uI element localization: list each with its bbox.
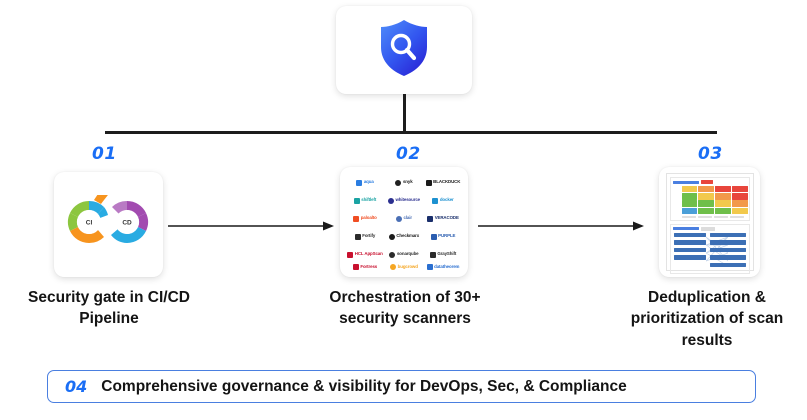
step-number-01: 01 <box>92 144 117 164</box>
scanner-logo-mark <box>427 216 433 222</box>
scanner-logo-name: BLACKDUCK <box>433 180 460 184</box>
heatmap-cell <box>715 208 731 214</box>
loop-label-cd: CD <box>122 220 132 227</box>
scanner-logo: Fortify <box>346 228 384 245</box>
loop-label-ci: CI <box>85 220 92 227</box>
bipartite-right-bar <box>710 240 746 245</box>
step-card-results <box>659 167 760 277</box>
scanner-logo-mark <box>390 264 396 270</box>
scanner-logo-name: sonarqube <box>397 252 419 256</box>
scanner-logo: datatheorem <box>424 264 462 270</box>
scanner-logo-name: clair <box>403 216 412 220</box>
scanner-logo: PURPLE <box>424 228 462 245</box>
hero-card <box>336 6 472 94</box>
bipartite-right-bar <box>710 255 746 260</box>
scanner-logo-name: Fortress <box>360 265 377 269</box>
vertical-connector-line <box>403 94 406 133</box>
scanner-logo-mark <box>353 264 359 270</box>
bipartite-left-column <box>674 233 706 260</box>
scanner-logo: snyk <box>385 174 423 191</box>
scanner-logo: paloalto <box>346 210 384 227</box>
scanner-logo-mark <box>347 252 353 258</box>
scanner-logo-name: datatheorem <box>434 265 459 269</box>
axis-tick <box>730 216 744 218</box>
step-caption-2: Orchestration of 30+ security scanners <box>300 287 510 330</box>
axis-tick <box>698 216 712 218</box>
scanner-logo: Fortress <box>346 264 384 270</box>
scanner-logo-name: GrayShift <box>437 252 456 256</box>
heatmap-cell <box>732 200 748 206</box>
scanner-logo-mark <box>395 180 401 186</box>
heatmap-cell <box>732 186 748 192</box>
heatmap-cell <box>715 193 731 199</box>
bipartite-right-column <box>710 233 746 268</box>
bipartite-left-bar <box>674 233 706 238</box>
scanner-logo-mark <box>389 252 395 258</box>
heatmap-x-axis <box>682 216 747 218</box>
bipartite-left-bar <box>674 255 706 260</box>
scanner-logo-name: PURPLE <box>438 234 455 238</box>
governance-banner: 04 Comprehensive governance & visibility… <box>47 370 756 403</box>
horizontal-connector-line <box>105 131 717 134</box>
bipartite-left-bar <box>674 240 706 245</box>
scanner-logo: docker <box>424 192 462 209</box>
heatmap-cell <box>682 193 698 199</box>
association-panel-header <box>673 227 747 231</box>
axis-tick <box>682 216 696 218</box>
heatmap-cell <box>698 186 714 192</box>
heatmap-cell <box>732 208 748 214</box>
scanner-logo: BLACKDUCK <box>424 174 462 191</box>
axis-tick <box>714 216 728 218</box>
scanner-logo: shiftleft <box>346 192 384 209</box>
scanner-logo-name: Checkmarx <box>396 234 419 238</box>
risk-panel-header <box>673 180 747 184</box>
scanner-logo-name: snyk <box>403 180 413 184</box>
dashboard-association-panel <box>670 224 750 274</box>
scanner-logo-name: VERACODE <box>435 216 459 220</box>
scanner-logo-mark <box>432 198 438 204</box>
heatmap-cell <box>732 193 748 199</box>
scanner-logo-name: HCL AppScan <box>355 252 383 256</box>
heatmap-cell <box>698 200 714 206</box>
heatmap-cell <box>698 193 714 199</box>
step-caption-1: Security gate in CI/CD Pipeline <box>16 287 202 330</box>
banner-text: Comprehensive governance & visibility fo… <box>101 378 626 396</box>
bipartite-right-bar <box>710 248 746 253</box>
scanner-logo-mark <box>396 216 402 222</box>
bipartite-diagram <box>673 233 747 271</box>
risk-heatmap <box>682 186 748 214</box>
scanner-logo: aqua <box>346 174 384 191</box>
step-number-02: 02 <box>396 144 421 164</box>
scanner-logo-name: bugcrowd <box>398 265 418 269</box>
scanner-logo-name: docker <box>440 198 454 202</box>
scanner-logo: GrayShift <box>424 246 462 263</box>
bipartite-right-bar <box>710 233 746 238</box>
heatmap-cell <box>715 200 731 206</box>
dashboard-risk-panel <box>670 177 750 221</box>
scanner-logo-mark <box>427 264 433 270</box>
scanner-logo-name: Fortify <box>362 234 375 238</box>
scanner-logo-name: paloalto <box>361 216 377 220</box>
scanner-logo-mark <box>389 234 395 240</box>
scanner-logo: sonarqube <box>385 246 423 263</box>
scanner-logo-mark <box>355 234 361 240</box>
scanner-logo: clair <box>385 210 423 227</box>
step-card-cicd: CI CD <box>54 172 163 277</box>
scanner-logo: VERACODE <box>424 210 462 227</box>
scanner-logo-mark <box>430 252 436 258</box>
flow-arrow-2 <box>478 219 644 237</box>
heatmap-cell <box>715 186 731 192</box>
scanner-logo-name: shiftleft <box>361 198 376 202</box>
heatmap-cell <box>698 208 714 214</box>
scanner-logo-mark <box>353 216 359 222</box>
bipartite-right-bar <box>710 263 746 268</box>
step-caption-3: Deduplication & prioritization of scan r… <box>607 287 807 351</box>
scanner-logo-grid: aquasnykBLACKDUCKshiftleftwhitesourcedoc… <box>345 172 463 272</box>
step-number-03: 03 <box>698 144 723 164</box>
scanner-logo-name: aqua <box>364 180 374 184</box>
association-panel-badge <box>701 227 715 231</box>
heatmap-cell <box>682 208 698 214</box>
scanner-logo: bugcrowd <box>385 264 423 270</box>
flow-arrow-1 <box>168 219 334 237</box>
scanner-logo-mark <box>431 234 437 240</box>
association-panel-title <box>673 227 699 230</box>
risk-dashboard-thumbnail <box>666 173 754 271</box>
scanner-logo-mark <box>356 180 362 186</box>
step-card-scanners: aquasnykBLACKDUCKshiftleftwhitesourcedoc… <box>340 167 468 277</box>
scanner-logo-name: whitesource <box>395 198 420 202</box>
heatmap-cell <box>682 200 698 206</box>
scanner-logo-mark <box>354 198 360 204</box>
scanner-logo: whitesource <box>385 192 423 209</box>
heatmap-cell <box>682 186 698 192</box>
scanner-logo-mark <box>426 180 432 186</box>
banner-step-number: 04 <box>65 377 87 396</box>
shield-search-icon <box>378 19 430 82</box>
devops-infinity-loop-icon: CI CD <box>63 195 155 254</box>
risk-panel-badge-critical <box>701 180 713 184</box>
scanner-logo-mark <box>388 198 394 204</box>
risk-panel-title <box>673 181 699 184</box>
scanner-logo: HCL AppScan <box>346 246 384 263</box>
scanner-logo: Checkmarx <box>385 228 423 245</box>
bipartite-left-bar <box>674 248 706 253</box>
